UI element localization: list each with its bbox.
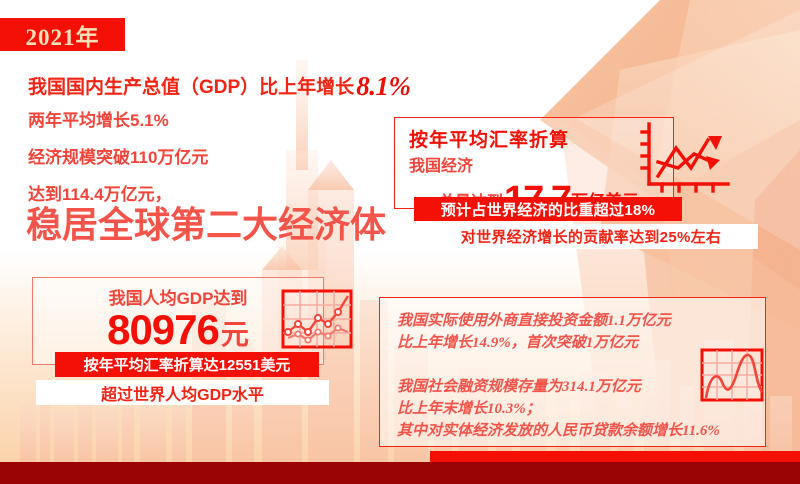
accent-bar-bottom-right [430,451,800,462]
gdp-growth-value: 8.1% [356,71,410,101]
world-contribution-label: 对世界经济增长的贡献率达到25%左右 [461,226,721,247]
panel-exchange-rate: 按年平均汇率折算 我国经济 总量达到17.7万亿美元 [394,117,674,209]
world-share-band: 预计占世界经济的比重超过18% [414,197,682,221]
footer-bar [0,462,800,484]
gdp-growth-prefix: 我国国内生产总值（GDP）比上年增长 [28,77,354,98]
year-badge-label: 2021年 [26,18,100,52]
per-capita-value: 80976 [107,306,219,353]
page-headline: 稳居全球第二大经济体 [26,196,386,248]
two-year-average-line: 两年平均增长5.1% [28,106,169,131]
per-capita-unit: 元 [221,319,249,350]
per-capita-usd-band: 按年平均汇率折算达12551美元 [55,352,319,377]
world-contribution-band: 对世界经济增长的贡献率达到25%左右 [424,224,758,249]
per-capita-world-label: 超过世界人均GDP水平 [101,381,264,405]
wave-chart-icon [700,348,764,402]
panel-exchange-title: 按年平均汇率折算 [409,125,569,152]
year-badge: 2021年 [0,18,125,51]
per-capita-world-band: 超过世界人均GDP水平 [36,380,329,405]
grid-line-chart-icon [280,288,354,350]
infographic-canvas: 2021年 我国国内生产总值（GDP）比上年增长8.1% 两年平均增长5.1% … [0,0,800,484]
economy-scale-line: 经济规模突破110万亿元 [28,143,208,168]
arrow-line-chart-icon [636,118,732,198]
panel-exchange-sub1: 我国经济 [409,152,473,176]
gdp-growth-line: 我国国内生产总值（GDP）比上年增长8.1% [28,69,410,100]
investment-financing-text: 我国实际使用外商直接投资金额1.1万亿元 比上年增长14.9%，首次突破1万亿元… [397,310,720,442]
per-capita-usd-label: 按年平均汇率折算达12551美元 [84,354,291,375]
world-share-label: 预计占世界经济的比重超过18% [441,199,656,220]
